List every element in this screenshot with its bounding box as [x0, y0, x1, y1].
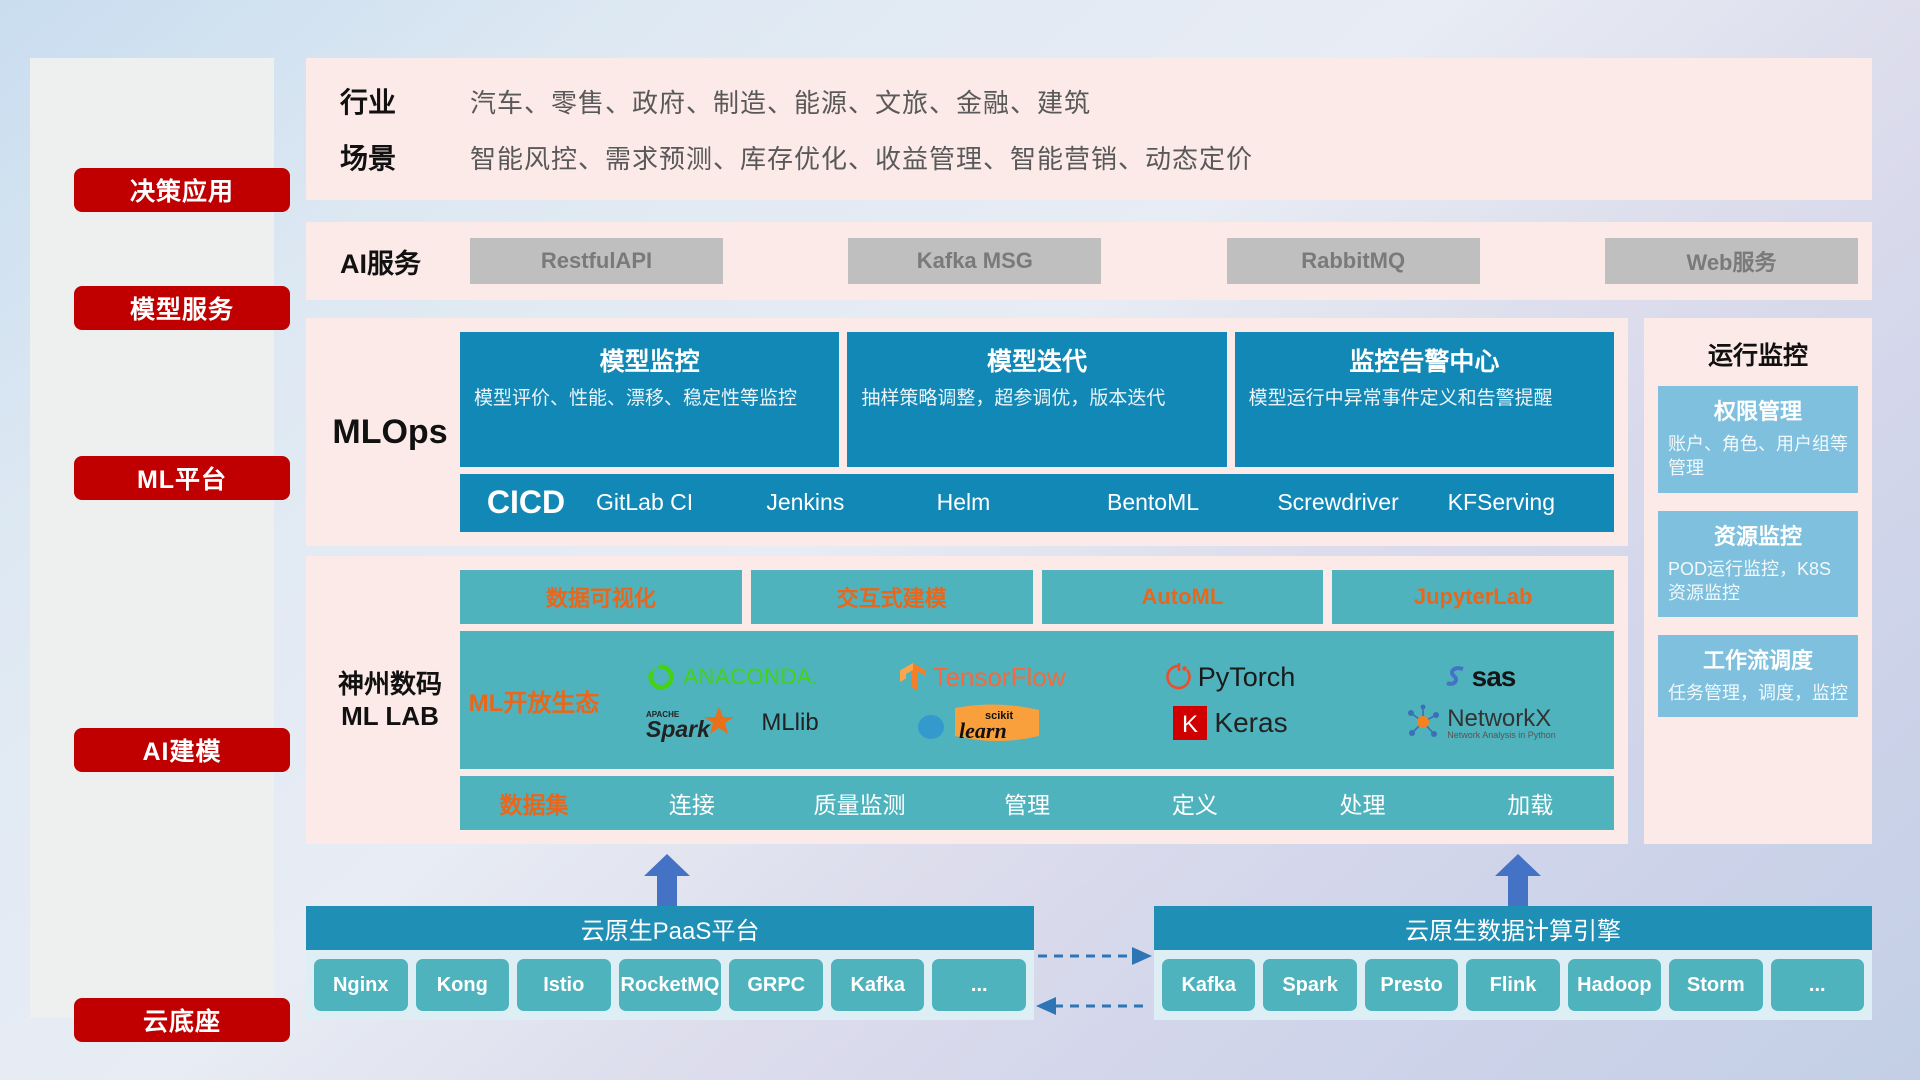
dataset-item-definition[interactable]: 定义	[1111, 786, 1279, 820]
dataset-item-quality-monitoring[interactable]: 质量监测	[776, 786, 944, 820]
runtime-monitoring-title: 运行监控	[1658, 336, 1858, 372]
svg-text:learn: learn	[959, 718, 1007, 743]
dataset-label: 数据集	[460, 786, 608, 820]
ai-service-chip-restfulapi[interactable]: RestfulAPI	[470, 238, 723, 284]
mlops-card-desc: 模型评价、性能、漂移、稳定性等监控	[474, 386, 825, 412]
tensorflow-logo-text: TensorFlow	[933, 662, 1066, 693]
anaconda-logo: ANACONDA.	[646, 662, 818, 692]
engine-chip-more[interactable]: ...	[1771, 959, 1864, 1011]
networkx-logo: NetworkX Network Analysis in Python	[1403, 704, 1556, 742]
dataset-item-management[interactable]: 管理	[943, 786, 1111, 820]
keras-logo-text: Keras	[1214, 707, 1287, 739]
tool-chip-automl[interactable]: AutoML	[1042, 570, 1324, 624]
ml-ecosystem-label: ML开放生态	[460, 683, 608, 718]
engine-chip-presto[interactable]: Presto	[1365, 959, 1458, 1011]
dataset-item-processing[interactable]: 处理	[1279, 786, 1447, 820]
scenario-values: 智能风控、需求预测、库存优化、收益管理、智能营销、动态定价	[470, 139, 1253, 176]
scikit-learn-logo: scikit learn	[917, 700, 1047, 746]
ai-service-chip-rabbitmq[interactable]: RabbitMQ	[1227, 238, 1480, 284]
networkx-logo-text: NetworkX	[1447, 707, 1556, 731]
mlops-card-desc: 抽样策略调整，超参调优，版本迭代	[861, 386, 1212, 412]
mlops-card-model-iteration[interactable]: 模型迭代 抽样策略调整，超参调优，版本迭代	[847, 332, 1226, 467]
ml-lab-label: 神州数码 ML LAB	[320, 570, 460, 830]
scenario-row: 场景 智能风控、需求预测、库存优化、收益管理、智能营销、动态定价	[340, 129, 1872, 185]
pytorch-logo-text: PyTorch	[1198, 662, 1296, 693]
mlops-card-title: 模型监控	[474, 342, 825, 378]
rail-badge-ml-platform: ML平台	[74, 456, 290, 500]
rail-badge-model-service: 模型服务	[74, 286, 290, 330]
monitoring-card-workflow[interactable]: 工作流调度 任务管理，调度，监控	[1658, 635, 1858, 717]
cloud-native-data-engine-title: 云原生数据计算引擎	[1154, 906, 1872, 950]
industry-row: 行业 汽车、零售、政府、制造、能源、文旅、金融、建筑	[340, 73, 1872, 129]
monitoring-card-desc: POD运行监控，K8S资源监控	[1668, 557, 1848, 606]
ai-service-band: AI服务 RestfulAPI Kafka MSG RabbitMQ Web服务	[306, 222, 1872, 300]
sas-icon	[1444, 663, 1470, 691]
ai-service-chip-kafka-msg[interactable]: Kafka MSG	[848, 238, 1101, 284]
rail-badge-cloud-base: 云底座	[74, 998, 290, 1042]
decision-application-band: 行业 汽车、零售、政府、制造、能源、文旅、金融、建筑 场景 智能风控、需求预测、…	[306, 58, 1872, 200]
paas-chip-kong[interactable]: Kong	[416, 959, 510, 1011]
tool-chip-jupyterlab[interactable]: JupyterLab	[1332, 570, 1614, 624]
paas-chip-istio[interactable]: Istio	[517, 959, 611, 1011]
monitoring-card-desc: 任务管理，调度，监控	[1668, 681, 1848, 705]
mlops-label: MLOps	[320, 332, 460, 532]
bidirectional-link-arrows	[1034, 930, 1154, 1026]
mlops-card-desc: 模型运行中异常事件定义和告警提醒	[1249, 386, 1600, 412]
monitoring-card-title: 资源监控	[1668, 519, 1848, 551]
cicd-label: CICD	[460, 484, 592, 521]
rail-badge-ai-modeling: AI建模	[74, 728, 290, 772]
up-arrow-data-engine	[1495, 854, 1541, 906]
ml-lab-label-line2: ML LAB	[341, 700, 439, 733]
monitoring-card-desc: 账户、角色、用户组等管理	[1668, 432, 1848, 481]
sas-logo-text: sas	[1472, 661, 1516, 693]
paas-chip-nginx[interactable]: Nginx	[314, 959, 408, 1011]
ai-service-label: AI服务	[340, 242, 470, 281]
paas-chip-more[interactable]: ...	[932, 959, 1026, 1011]
dataset-item-loading[interactable]: 加载	[1446, 786, 1614, 820]
cicd-item-gitlab-ci[interactable]: GitLab CI	[592, 491, 762, 514]
pytorch-icon	[1166, 662, 1192, 692]
keras-logo: K Keras	[1173, 706, 1287, 740]
cicd-item-screwdriver[interactable]: Screwdriver	[1273, 491, 1443, 514]
mllib-text: MLlib	[761, 709, 818, 737]
tensorflow-logo: TensorFlow	[898, 661, 1066, 693]
scenario-label: 场景	[340, 137, 470, 177]
layer-rail: 决策应用 模型服务 ML平台 AI建模 云底座	[30, 58, 274, 1018]
svg-text:Spark: Spark	[646, 716, 711, 742]
pytorch-logo: PyTorch	[1166, 662, 1296, 693]
engine-chip-flink[interactable]: Flink	[1466, 959, 1559, 1011]
monitoring-card-resource[interactable]: 资源监控 POD运行监控，K8S资源监控	[1658, 511, 1858, 618]
spark-icon: APACHE Spark	[646, 703, 756, 743]
cicd-bar: CICD GitLab CI Jenkins Helm BentoML Scre…	[460, 474, 1614, 532]
paas-chip-grpc[interactable]: GRPC	[729, 959, 823, 1011]
mlops-band: MLOps 模型监控 模型评价、性能、漂移、稳定性等监控 模型迭代 抽样策略调整…	[306, 318, 1628, 546]
keras-icon: K	[1173, 706, 1207, 740]
up-arrow-paas	[644, 854, 690, 906]
architecture-diagram: 决策应用 模型服务 ML平台 AI建模 云底座 行业 汽车、零售、政府、制造、能…	[0, 0, 1920, 1080]
cloud-native-paas-title: 云原生PaaS平台	[306, 906, 1034, 950]
monitoring-card-title: 工作流调度	[1668, 643, 1848, 675]
networkx-tagline: Network Analysis in Python	[1447, 731, 1556, 740]
ml-ecosystem-row: ML开放生态 ANACONDA.	[460, 631, 1614, 769]
engine-chip-spark[interactable]: Spark	[1263, 959, 1356, 1011]
anaconda-logo-text: ANACONDA.	[683, 664, 818, 690]
engine-chip-storm[interactable]: Storm	[1669, 959, 1762, 1011]
cicd-item-helm[interactable]: Helm	[933, 491, 1103, 514]
ai-modeling-band: 神州数码 ML LAB 数据可视化 交互式建模 AutoML JupyterLa…	[306, 556, 1628, 844]
ai-service-chip-web-service[interactable]: Web服务	[1605, 238, 1858, 284]
svg-text:K: K	[1182, 711, 1198, 738]
paas-chip-kafka[interactable]: Kafka	[831, 959, 925, 1011]
ml-lab-label-line1: 神州数码	[338, 668, 442, 701]
industry-values: 汽车、零售、政府、制造、能源、文旅、金融、建筑	[470, 83, 1091, 120]
mlops-card-alert-center[interactable]: 监控告警中心 模型运行中异常事件定义和告警提醒	[1235, 332, 1614, 467]
monitoring-card-title: 权限管理	[1668, 394, 1848, 426]
dataset-item-connect[interactable]: 连接	[608, 786, 776, 820]
engine-chip-hadoop[interactable]: Hadoop	[1568, 959, 1661, 1011]
rail-badge-decision-app: 决策应用	[74, 168, 290, 212]
cicd-item-kfserving[interactable]: KFServing	[1444, 491, 1614, 514]
cloud-native-paas-block: 云原生PaaS平台 Nginx Kong Istio RocketMQ GRPC…	[306, 906, 1034, 1020]
tensorflow-icon	[898, 661, 928, 693]
cloud-native-data-engine-block: 云原生数据计算引擎 Kafka Spark Presto Flink Hadoo…	[1154, 906, 1872, 1020]
monitoring-card-permission[interactable]: 权限管理 账户、角色、用户组等管理	[1658, 386, 1858, 493]
mlops-card-model-monitoring[interactable]: 模型监控 模型评价、性能、漂移、稳定性等监控	[460, 332, 839, 467]
tool-chip-interactive-modeling[interactable]: 交互式建模	[751, 570, 1033, 624]
cicd-item-bentoml[interactable]: BentoML	[1103, 491, 1273, 514]
mlops-card-title: 模型迭代	[861, 342, 1212, 378]
industry-label: 行业	[340, 81, 470, 121]
dataset-row: 数据集 连接 质量监测 管理 定义 处理 加载	[460, 776, 1614, 830]
networkx-icon	[1403, 704, 1443, 742]
mlops-card-title: 监控告警中心	[1249, 342, 1600, 378]
paas-chip-rocketmq[interactable]: RocketMQ	[619, 959, 722, 1011]
runtime-monitoring-panel: 运行监控 权限管理 账户、角色、用户组等管理 资源监控 POD运行监控，K8S资…	[1644, 318, 1872, 844]
tool-chip-data-visualization[interactable]: 数据可视化	[460, 570, 742, 624]
sas-logo: sas	[1444, 661, 1516, 693]
anaconda-icon	[646, 662, 676, 692]
cicd-item-jenkins[interactable]: Jenkins	[762, 491, 932, 514]
scikit-learn-wordmark: scikit learn	[947, 700, 1047, 746]
spark-mllib-logo: APACHE Spark MLlib	[646, 703, 818, 743]
engine-chip-kafka[interactable]: Kafka	[1162, 959, 1255, 1011]
